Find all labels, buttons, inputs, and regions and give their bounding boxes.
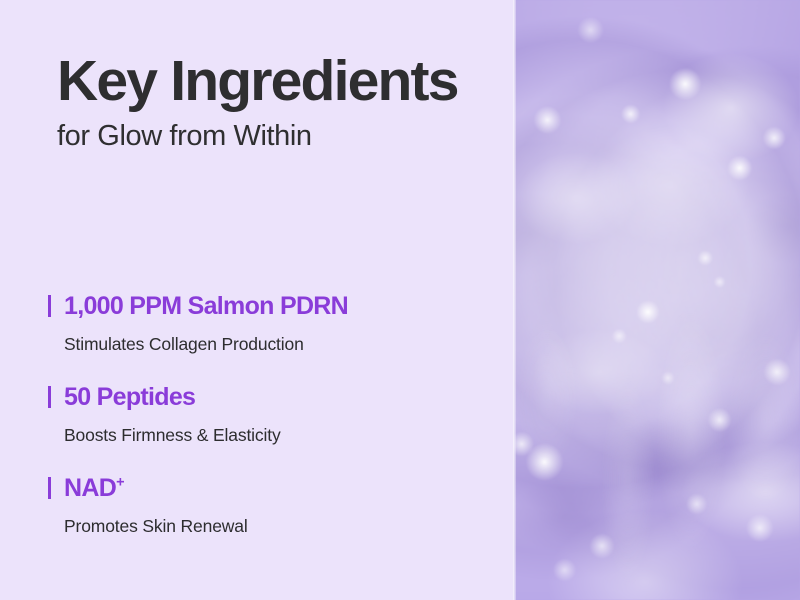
ingredient-description: Promotes Skin Renewal <box>64 516 498 537</box>
list-item: 50 Peptides Boosts Firmness & Elasticity <box>48 383 498 474</box>
ingredient-heading-row: 1,000 PPM Salmon PDRN <box>48 292 498 322</box>
vertical-bar-accent-icon <box>48 477 51 499</box>
ingredient-name-superscript: + <box>116 475 124 491</box>
ingredient-description: Stimulates Collagen Production <box>64 334 498 355</box>
page-subtitle: for Glow from Within <box>57 119 487 154</box>
panel-divider <box>513 0 516 600</box>
list-item: NAD+ Promotes Skin Renewal <box>48 474 498 565</box>
heading-block: Key Ingredients for Glow from Within <box>57 52 487 154</box>
product-texture-image <box>513 0 800 600</box>
ingredient-description: Boosts Firmness & Elasticity <box>64 425 498 446</box>
ingredient-name-text: NAD <box>64 474 116 502</box>
ingredient-heading-row: 50 Peptides <box>48 383 498 413</box>
ingredient-name-text: 1,000 PPM Salmon PDRN <box>64 292 348 320</box>
slide-canvas: Key Ingredients for Glow from Within 1,0… <box>0 0 800 600</box>
content-panel: Key Ingredients for Glow from Within 1,0… <box>0 0 513 600</box>
ingredient-name: 1,000 PPM Salmon PDRN <box>64 294 348 319</box>
gel-highlight-streaks <box>513 0 800 600</box>
vertical-bar-accent-icon <box>48 386 51 408</box>
ingredient-heading-row: NAD+ <box>48 474 498 504</box>
list-item: 1,000 PPM Salmon PDRN Stimulates Collage… <box>48 292 498 383</box>
page-title: Key Ingredients <box>57 52 487 110</box>
ingredient-name-text: 50 Peptides <box>64 383 195 411</box>
ingredient-name: 50 Peptides <box>64 385 195 410</box>
ingredient-name: NAD+ <box>64 476 125 501</box>
vertical-bar-accent-icon <box>48 295 51 317</box>
ingredient-list: 1,000 PPM Salmon PDRN Stimulates Collage… <box>48 292 498 565</box>
